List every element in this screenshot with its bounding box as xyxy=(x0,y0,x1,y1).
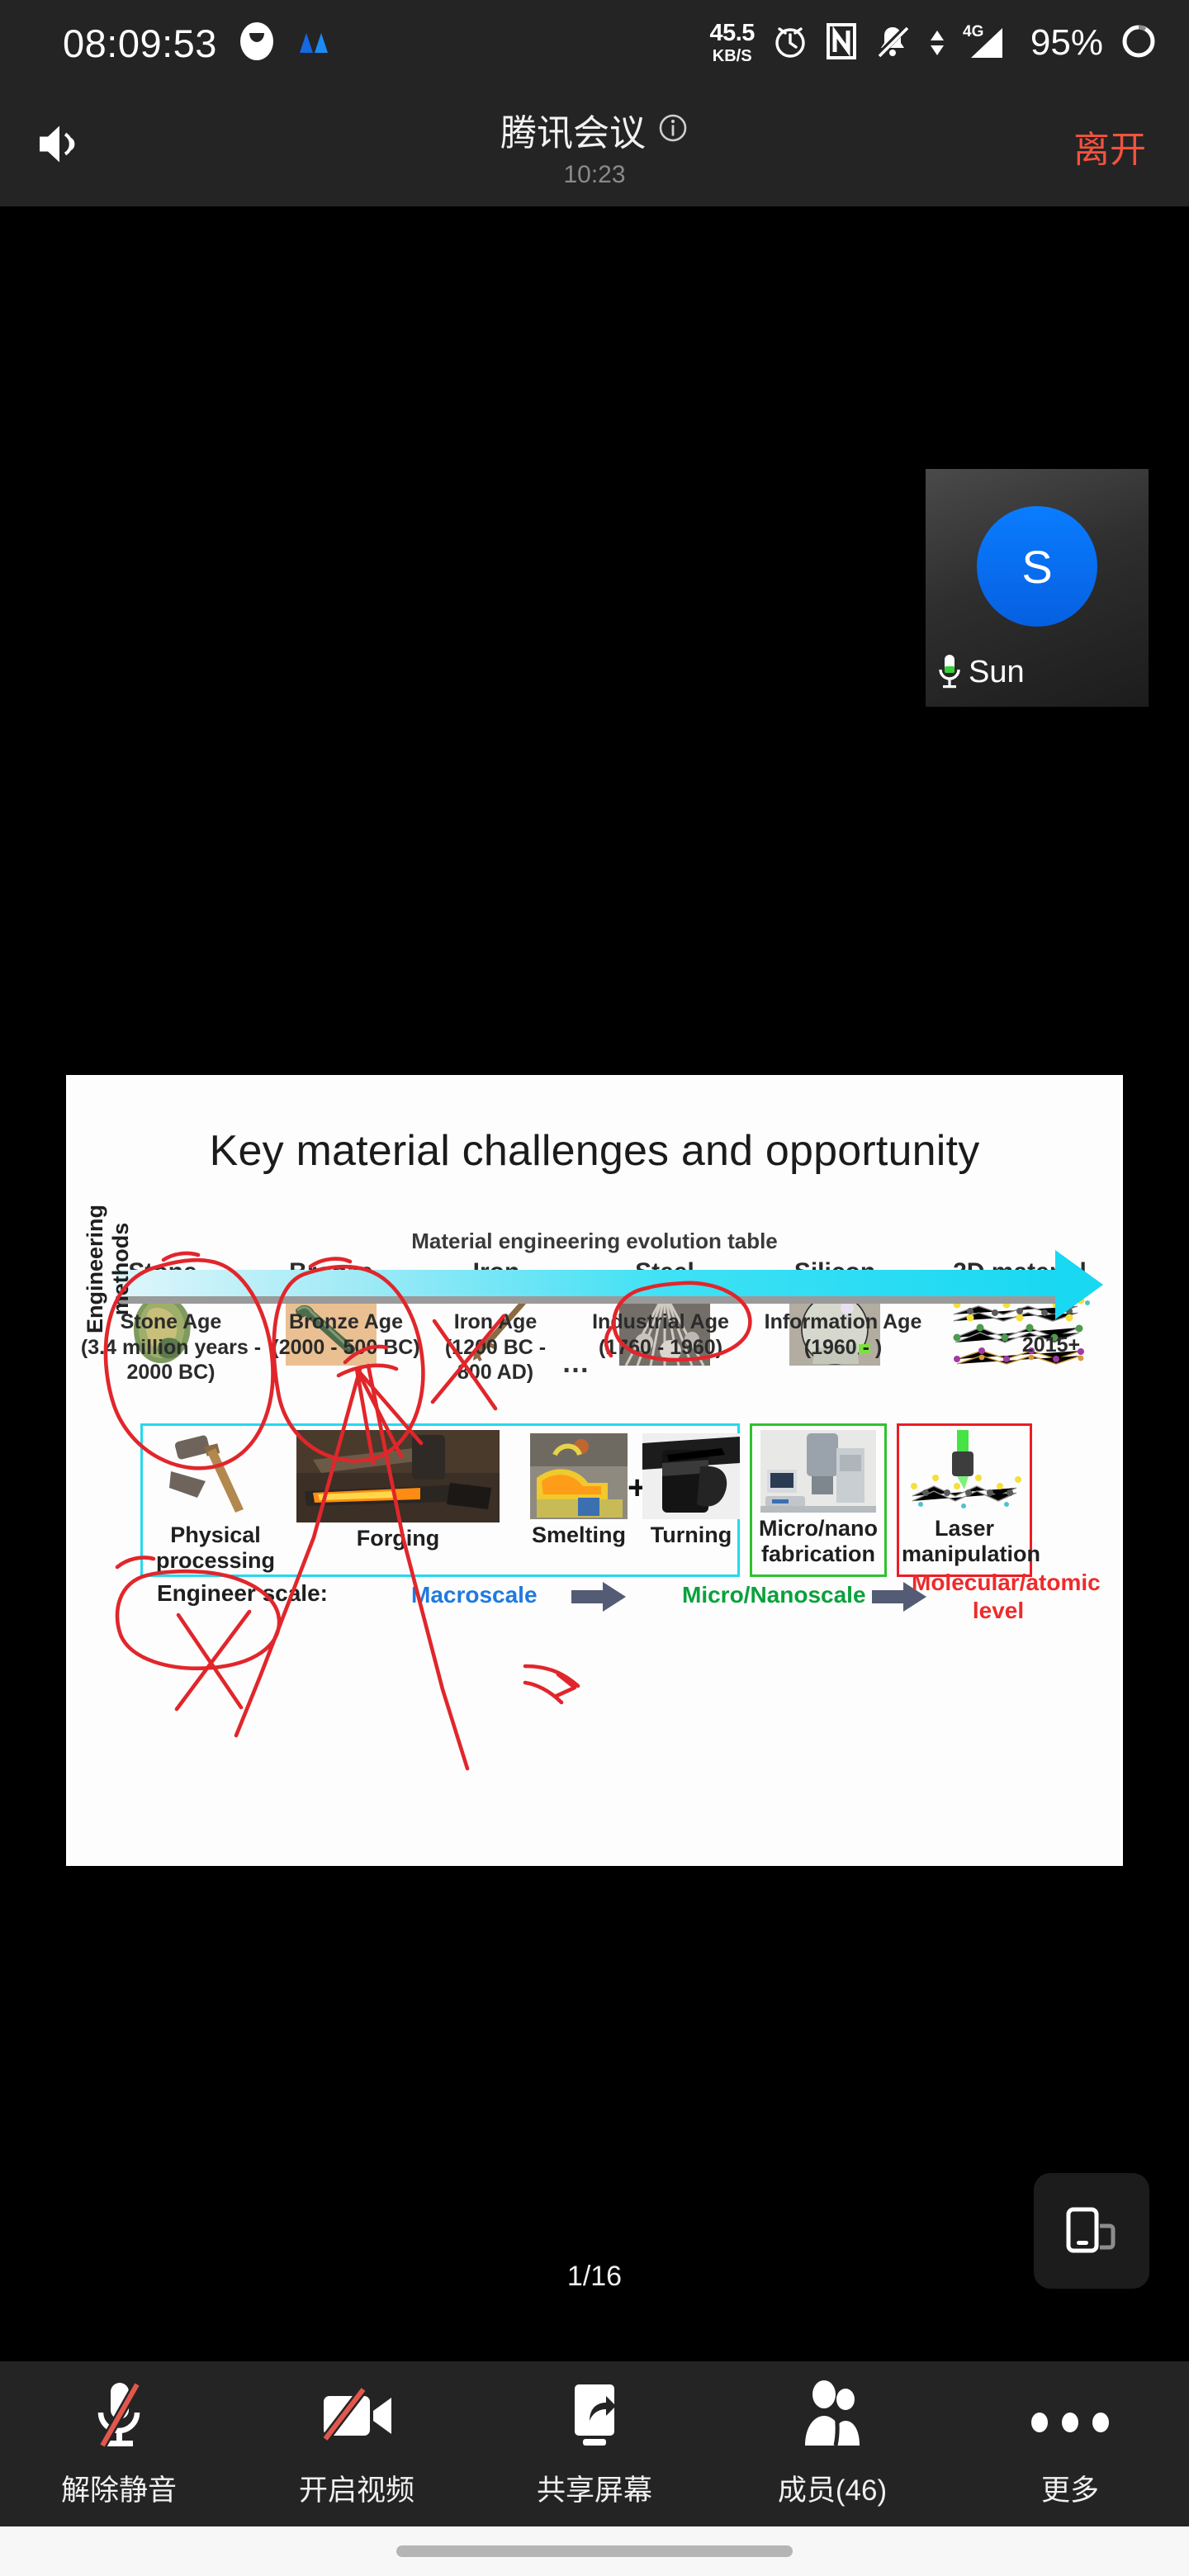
method-label: Physical processing xyxy=(145,1522,286,1574)
toolbar-unmute-button[interactable]: 解除静音 xyxy=(0,2379,238,2509)
multi-window-icon xyxy=(1059,2196,1125,2266)
ink-arrowhead-smelting xyxy=(557,1674,575,1696)
network-speed-unit: KB/S xyxy=(713,48,752,64)
status-bar: 08:09:53 45.5 KB/S xyxy=(0,0,1189,86)
toolbar-share-screen-button[interactable]: 共享屏幕 xyxy=(476,2379,713,2509)
meeting-elapsed-time: 10:23 xyxy=(563,161,625,189)
share-screen-icon xyxy=(561,2379,628,2449)
stone-hammer-photo xyxy=(164,1430,267,1519)
method-laser-manipulation: Laser manipulation xyxy=(902,1430,1027,1567)
shared-slide[interactable]: Key material challenges and opportunity … xyxy=(66,1075,1123,1866)
smelting-photo xyxy=(530,1433,628,1519)
timeline-end-label: 2015+ xyxy=(989,1333,1113,1358)
age-name: Information Age xyxy=(756,1309,930,1335)
microphone-icon xyxy=(936,651,964,694)
toolbar-label: 解除静音 xyxy=(61,2467,177,2509)
laser-lattice-photo xyxy=(906,1430,1023,1513)
right-arrow-icon xyxy=(568,1580,631,1613)
ink-arrow-to-smelting-lower xyxy=(525,1683,561,1702)
method-physical-processing: Physical processing xyxy=(145,1430,286,1574)
scale-step-macroscale: Macroscale xyxy=(411,1582,538,1608)
age-name: Industrial Age xyxy=(568,1309,753,1335)
method-label: Smelting xyxy=(525,1522,632,1548)
more-dots-icon xyxy=(1025,2379,1116,2449)
meeting-stage: S Sun Key material challenges and opport… xyxy=(0,206,1189,2361)
toolbar-label: 更多 xyxy=(1041,2467,1099,2509)
meeting-title: 腾讯会议 xyxy=(500,103,646,156)
meeting-toolbar: 解除静音 开启视频 共享屏幕 xyxy=(0,2361,1189,2526)
toolbar-more-button[interactable]: 更多 xyxy=(951,2379,1189,2509)
method-label: Forging xyxy=(291,1526,505,1551)
alarm-icon xyxy=(771,22,809,64)
toolbar-participants-button[interactable]: 成员(46) xyxy=(713,2379,951,2509)
nfc-icon xyxy=(826,22,857,64)
age-information: Information Age (1960 - ) xyxy=(756,1309,930,1360)
network-speed: 45.5 KB/S xyxy=(709,21,754,64)
timeline-baseline xyxy=(116,1296,1065,1304)
meeting-title-row[interactable]: 腾讯会议 xyxy=(500,103,689,156)
turning-lathe-photo xyxy=(642,1433,740,1519)
ink-arrow-to-smelting xyxy=(525,1666,578,1686)
forging-photo xyxy=(296,1430,500,1522)
meitu-app-icon xyxy=(296,28,334,59)
home-gesture-pill[interactable] xyxy=(396,2545,793,2557)
ink-cross-hammer-2 xyxy=(177,1612,249,1709)
info-circle-icon[interactable] xyxy=(657,112,689,148)
meeting-title-block: 腾讯会议 10:23 xyxy=(0,86,1189,206)
scale-step-micronanoscale: Micro/Nanoscale xyxy=(682,1582,866,1608)
scale-step-molecular: Molecular/atomic level xyxy=(912,1569,1085,1624)
data-transfer-icon xyxy=(928,22,946,64)
toolbar-label: 开启视频 xyxy=(299,2467,414,2509)
status-bar-right: 45.5 KB/S 4G 95% xyxy=(709,21,1158,65)
method-label: Laser manipulation xyxy=(902,1516,1027,1567)
mic-muted-icon xyxy=(86,2379,152,2449)
timeline-bar xyxy=(116,1270,1065,1298)
status-bar-left: 08:09:53 xyxy=(63,21,334,66)
method-smelting: Smelting xyxy=(525,1433,632,1548)
engineering-methods-label: Engineering methods xyxy=(83,1191,134,1347)
ink-cross-hammer-1 xyxy=(178,1615,241,1707)
4g-signal-icon: 4G xyxy=(963,21,1014,65)
method-label: Turning xyxy=(637,1522,745,1548)
age-name: Bronze Age xyxy=(268,1309,424,1335)
avatar: S xyxy=(977,506,1097,627)
method-micro-nano-fabrication: Micro/nano fabrication xyxy=(756,1430,880,1567)
leave-meeting-button[interactable]: 离开 xyxy=(1073,120,1146,173)
battery-percent: 95% xyxy=(1030,22,1103,64)
age-industrial: Industrial Age (1760 - 1960) xyxy=(568,1309,753,1360)
avatar-initial: S xyxy=(1021,540,1052,594)
age-iron: Iron Age (1200 BC - 800 AD) xyxy=(429,1309,561,1385)
age-range: (2000 - 500 BC) xyxy=(268,1335,424,1361)
status-clock: 08:09:53 xyxy=(63,21,217,66)
camera-off-icon xyxy=(317,2379,396,2449)
timeline-arrowhead xyxy=(1055,1250,1103,1319)
battery-ring-icon xyxy=(1120,21,1158,65)
age-name: Iron Age xyxy=(429,1309,561,1335)
evolution-table-caption: Material engineering evolution table xyxy=(66,1229,1123,1254)
mute-bell-icon xyxy=(874,22,912,64)
toolbar-label: 共享屏幕 xyxy=(537,2467,652,2509)
toolbar-start-video-button[interactable]: 开启视频 xyxy=(238,2379,476,2509)
network-speed-value: 45.5 xyxy=(709,21,754,45)
multi-window-button[interactable] xyxy=(1034,2173,1149,2289)
slide-page-indicator: 1/16 xyxy=(0,2261,1189,2293)
participant-footer: Sun xyxy=(936,651,1025,694)
method-turning: Turning xyxy=(637,1433,745,1548)
meeting-header: 腾讯会议 10:23 离开 xyxy=(0,86,1189,206)
age-bronze: Bronze Age (2000 - 500 BC) xyxy=(268,1309,424,1360)
method-forging: Forging xyxy=(291,1430,505,1551)
participant-name: Sun xyxy=(969,655,1025,690)
moon-icon xyxy=(239,21,275,65)
engineer-scale-title: Engineer scale: xyxy=(157,1580,328,1607)
participants-icon xyxy=(797,2379,868,2449)
participant-tile[interactable]: S Sun xyxy=(926,469,1149,707)
age-range: (1200 BC - 800 AD) xyxy=(429,1335,561,1385)
sem-machine-photo xyxy=(760,1430,876,1513)
system-navigation-bar xyxy=(0,2526,1189,2576)
meeting-screen: 08:09:53 45.5 KB/S xyxy=(0,0,1189,2576)
age-range: (1960 - ) xyxy=(756,1335,930,1361)
toolbar-label: 成员(46) xyxy=(778,2467,887,2509)
age-range: (1760 - 1960) xyxy=(568,1335,753,1361)
svg-text:4G: 4G xyxy=(963,23,983,40)
method-label: Micro/nano fabrication xyxy=(756,1516,880,1567)
ink-bronze-scribble-2 xyxy=(339,1366,396,1376)
slide-body: Material engineering evolution table Sto… xyxy=(66,1075,1123,1866)
